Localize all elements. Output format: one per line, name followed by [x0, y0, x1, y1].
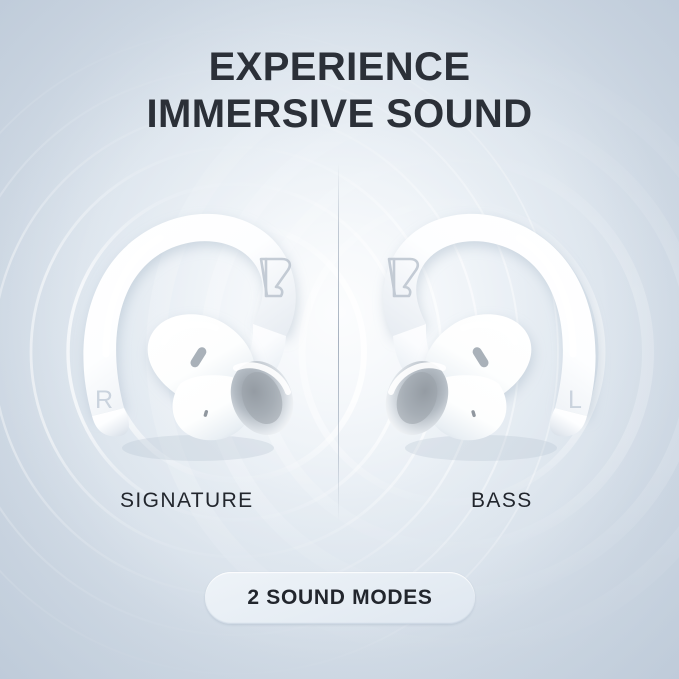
sound-modes-badge: 2 SOUND MODES	[205, 572, 475, 624]
mode-label-signature: SIGNATURE	[120, 489, 254, 513]
side-marking-L: L	[568, 386, 582, 414]
headline-line-2: IMMERSIVE SOUND	[0, 91, 679, 138]
side-marking-R: R	[95, 386, 113, 414]
earbud-bass: L	[341, 186, 631, 476]
mode-label-bass: BASS	[471, 489, 533, 513]
headline: EXPERIENCE IMMERSIVE SOUND	[0, 44, 679, 138]
sound-modes-badge-text: 2 SOUND MODES	[247, 586, 432, 610]
headline-line-1: EXPERIENCE	[0, 44, 679, 91]
product-marketing-image: EXPERIENCE IMMERSIVE SOUND	[0, 0, 679, 679]
earbud-signature: R	[48, 186, 338, 476]
